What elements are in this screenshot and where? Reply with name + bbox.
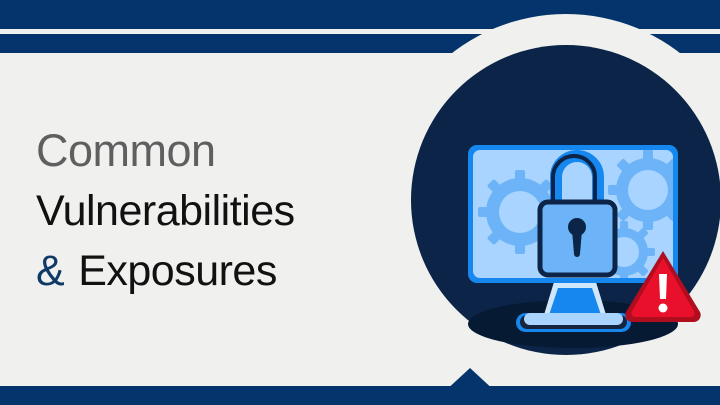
headline-exposures-word: Exposures [78,247,277,295]
banner-canvas: Common Vulnerabilities &Exposures [0,0,720,405]
page-title: Common Vulnerabilities &Exposures [36,128,416,294]
ampersand-glyph: & [36,247,64,295]
monitor-stand-inner [549,288,601,315]
monitor-base-inner [524,313,623,325]
headline-line-common: Common [36,128,416,174]
headline-line-vulnerabilities: Vulnerabilities [36,190,416,234]
exclamation-mark [659,274,668,313]
headline-line-exposures: &Exposures [36,250,416,294]
